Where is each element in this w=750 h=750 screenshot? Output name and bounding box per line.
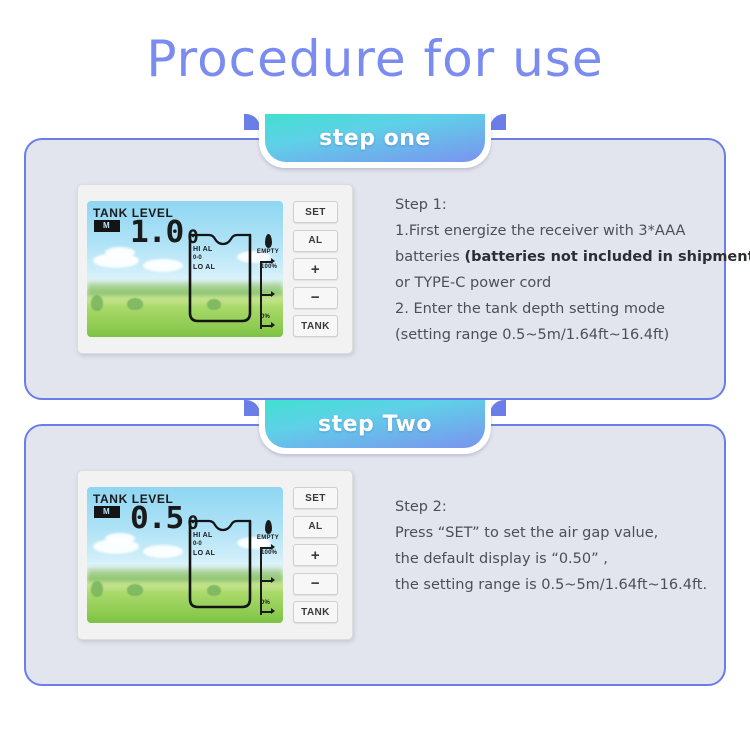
step-one-line-3: or TYPE-C power cord	[395, 270, 715, 296]
step-one-line-5: (setting range 0.5~5m/1.64ft~16.4ft)	[395, 322, 715, 348]
badge-tuck-right	[490, 400, 506, 416]
lcd-value-main: 1.0	[130, 219, 183, 248]
badge-tuck-right	[490, 114, 506, 130]
tree-icon	[127, 298, 143, 310]
lcd-unit-badge: M	[94, 220, 120, 232]
al-button[interactable]: AL	[293, 230, 338, 252]
tank-level-device-one: TANK LEVEL M 1.0 0 HI AL 0-0 LO AL	[77, 184, 353, 354]
device-button-column-one: SET AL + − TANK	[293, 201, 338, 337]
scale-top-label: 100%	[261, 550, 277, 556]
minus-button[interactable]: −	[293, 573, 338, 595]
step-two-line-3: the setting range is 0.5~5m/1.64ft~16.4f…	[395, 572, 707, 598]
lo-alarm-label: LO AL	[193, 263, 215, 272]
step-two-heading: Step 2:	[395, 494, 707, 520]
mid-alarm-label: 0-0	[193, 540, 215, 548]
scale-arrow-bottom	[271, 322, 275, 328]
card-body-two: TANK LEVEL M 0.5 0 HI AL 0-0 LO AL	[26, 426, 724, 684]
water-drop-icon	[265, 520, 272, 534]
alarm-labels: HI AL 0-0 LO AL	[193, 245, 215, 272]
empty-label: EMPTY	[255, 535, 281, 541]
water-drop-icon	[265, 234, 272, 248]
badge-inner-ribbon: step Two	[265, 400, 485, 448]
badge-tuck-left	[244, 400, 260, 416]
step-two-line-1: Press “SET” to set the air gap value,	[395, 520, 707, 546]
step-one-heading: Step 1:	[395, 192, 715, 218]
step-one-line-2-prefix: batteries	[395, 249, 464, 265]
hill-shape	[87, 568, 283, 582]
page-title: Procedure for use	[0, 0, 750, 84]
empty-indicator: EMPTY	[255, 234, 281, 255]
tank-level-device-two: TANK LEVEL M 0.5 0 HI AL 0-0 LO AL	[77, 470, 353, 640]
hi-alarm-label: HI AL	[193, 245, 215, 254]
tree-icon	[91, 295, 103, 311]
scale-bottom-label: 0%	[261, 314, 270, 320]
badge-inner-ribbon: step one	[265, 114, 485, 162]
badge-label: step Two	[318, 412, 432, 437]
set-button[interactable]: SET	[293, 487, 338, 509]
device-button-column-two: SET AL + − TANK	[293, 487, 338, 623]
cloud-icon	[143, 259, 183, 272]
step-one-line-2-bold: (batteries not included in shipment)	[464, 249, 750, 265]
badge-tuck-left	[244, 114, 260, 130]
scale-arrow-bottom	[271, 608, 275, 614]
step-one-line-2: batteries (batteries not included in shi…	[395, 244, 715, 270]
lcd-screen-two: TANK LEVEL M 0.5 0 HI AL 0-0 LO AL	[87, 487, 283, 623]
badge-label: step one	[319, 126, 431, 151]
tank-button[interactable]: TANK	[293, 601, 338, 623]
card-body-one: TANK LEVEL M 1.0 0 HI AL 0-0 LO AL	[26, 140, 724, 398]
hi-alarm-label: HI AL	[193, 531, 215, 540]
step-badge-two: step Two	[259, 400, 491, 454]
mid-alarm-label: 0-0	[193, 254, 215, 262]
step-badge-one: step one	[259, 114, 491, 168]
tank-button[interactable]: TANK	[293, 315, 338, 337]
set-button[interactable]: SET	[293, 201, 338, 223]
alarm-labels: HI AL 0-0 LO AL	[193, 531, 215, 558]
level-scale: 100% 0%	[260, 545, 283, 617]
lcd-screen-one: TANK LEVEL M 1.0 0 HI AL 0-0 LO AL	[87, 201, 283, 337]
scale-top-label: 100%	[261, 264, 277, 270]
step-card-one: step one TANK LEVEL M 1.0 0	[24, 138, 726, 400]
plus-button[interactable]: +	[293, 258, 338, 280]
tree-icon	[127, 584, 143, 596]
tree-icon	[91, 581, 103, 597]
step-one-instructions: Step 1: 1.First energize the receiver wi…	[395, 184, 715, 348]
step-card-two: step Two TANK LEVEL M 0.5 0	[24, 424, 726, 686]
lo-alarm-label: LO AL	[193, 549, 215, 558]
lcd-value-main: 0.5	[130, 505, 183, 534]
scale-arrow-mid	[271, 291, 275, 297]
level-scale: 100% 0%	[260, 259, 283, 331]
plus-button[interactable]: +	[293, 544, 338, 566]
cloud-icon	[143, 545, 183, 558]
step-one-line-1: 1.First energize the receiver with 3*AAA	[395, 218, 715, 244]
step-two-instructions: Step 2: Press “SET” to set the air gap v…	[395, 470, 707, 598]
step-two-line-2: the default display is “0.50” ,	[395, 546, 707, 572]
scale-arrow-mid	[271, 577, 275, 583]
empty-label: EMPTY	[255, 249, 281, 255]
hill-shape	[87, 282, 283, 296]
minus-button[interactable]: −	[293, 287, 338, 309]
al-button[interactable]: AL	[293, 516, 338, 538]
scale-bottom-label: 0%	[261, 600, 270, 606]
step-one-line-4: 2. Enter the tank depth setting mode	[395, 296, 715, 322]
lcd-unit-badge: M	[94, 506, 120, 518]
empty-indicator: EMPTY	[255, 520, 281, 541]
